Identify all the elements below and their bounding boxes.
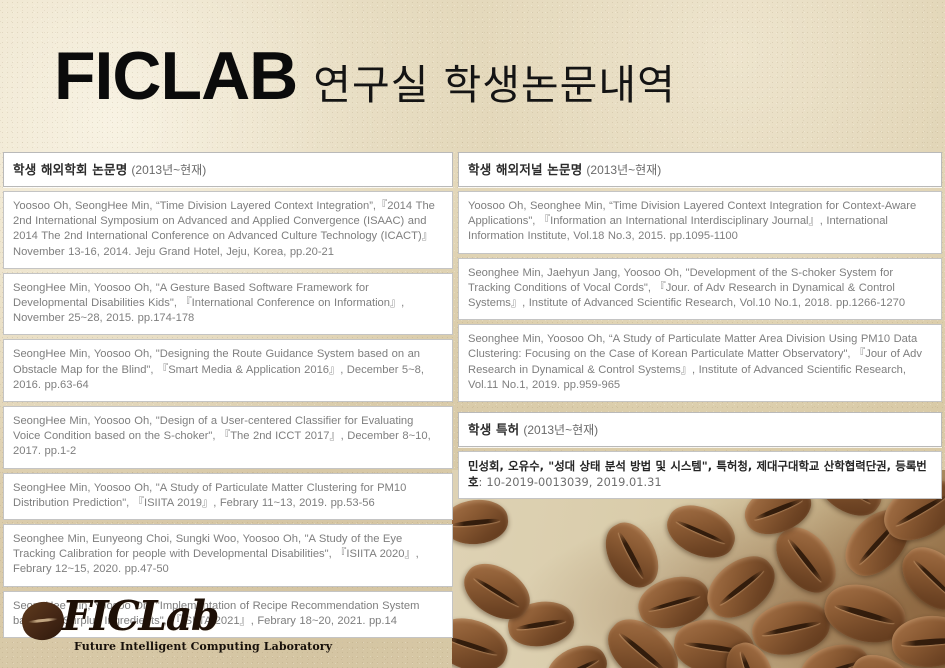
logo-wordmark: FICLab bbox=[62, 596, 218, 637]
section-header-overseas-conference: 학생 해외학회 논문명(2013년~현재) bbox=[3, 152, 453, 187]
list-item: Yoosoo Oh, Seonghee Min, “Time Division … bbox=[458, 191, 942, 254]
logo-tagline: Future Intelligent Computing Laboratory bbox=[74, 640, 332, 653]
section-header-years: (2013년~현재) bbox=[131, 163, 206, 177]
list-item: Seonghee Min, Jaehyun Jang, Yoosoo Oh, "… bbox=[458, 258, 942, 321]
ficlab-logo: FICLab Future Intelligent Computing Labo… bbox=[22, 598, 237, 656]
section-header-years: (2013년~현재) bbox=[523, 423, 598, 437]
section-header-label: 학생 특허 bbox=[468, 422, 519, 437]
section-header-label: 학생 해외저널 논문명 bbox=[468, 162, 582, 177]
list-item: Seonghee Min, Yoosoo Oh, “A Study of Par… bbox=[458, 324, 942, 402]
section-header-overseas-journal: 학생 해외저널 논문명(2013년~현재) bbox=[458, 152, 942, 187]
list-item: SeongHee Min, Yoosoo Oh, "Designing the … bbox=[3, 339, 453, 402]
list-item: Seonghee Min, Eunyeong Choi, Sungki Woo,… bbox=[3, 524, 453, 587]
title-main-ficlab: FICLAB bbox=[54, 42, 297, 110]
page-title: FICLAB 연구실 학생논문내역 bbox=[54, 42, 676, 110]
section-header-label: 학생 해외학회 논문명 bbox=[13, 162, 127, 177]
list-item: SeongHee Min, Yoosoo Oh, "A Study of Par… bbox=[3, 473, 453, 520]
left-column-conference-papers: 학생 해외학회 논문명(2013년~현재) Yoosoo Oh, SeongHe… bbox=[3, 152, 453, 642]
section-header-years: (2013년~현재) bbox=[586, 163, 661, 177]
coffee-bean-icon bbox=[19, 598, 68, 644]
list-item: SeongHee Min, Yoosoo Oh, "A Gesture Base… bbox=[3, 273, 453, 336]
section-header-patent: 학생 특허(2013년~현재) bbox=[458, 412, 942, 447]
title-subtitle-korean: 연구실 학생논문내역 bbox=[313, 65, 676, 106]
list-item: Yoosoo Oh, SeongHee Min, “Time Division … bbox=[3, 191, 453, 269]
list-item: SeongHee Min, Yoosoo Oh, "Design of a Us… bbox=[3, 406, 453, 469]
patent-number-text: : 10-2019-0013039, 2019.01.31 bbox=[478, 475, 661, 489]
right-column-journals-and-patents: 학생 해외저널 논문명(2013년~현재) Yoosoo Oh, Seonghe… bbox=[458, 152, 942, 503]
list-item: 민성회, 오유수, "성대 상태 분석 방법 및 시스템", 특허청, 제대구대… bbox=[458, 451, 942, 499]
